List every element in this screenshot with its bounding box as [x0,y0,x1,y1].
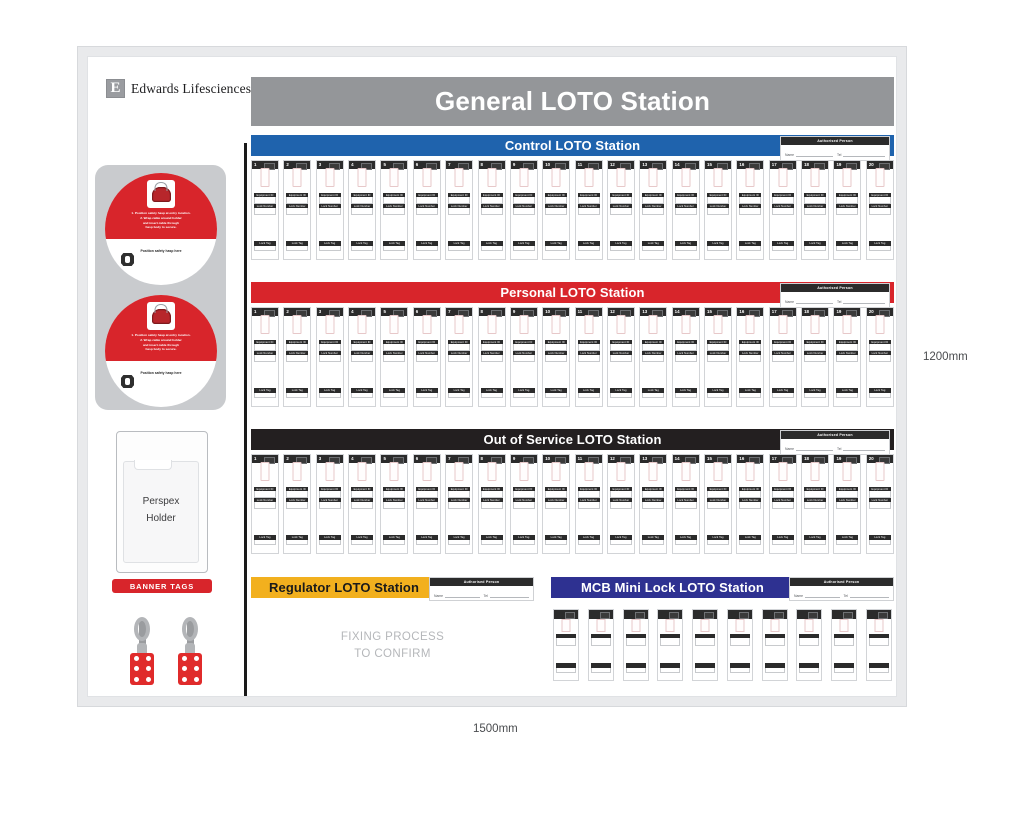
card-field-lock-tag[interactable]: Lock Tag [739,241,761,251]
mcb-field-primary[interactable] [626,634,646,646]
loto-card[interactable]: 2Equipment IDLock NumberLock Tag [283,454,311,554]
card-field-lock-tag[interactable]: Lock Tag [416,535,438,545]
authorised-person-name-field[interactable]: Name [434,590,480,598]
card-field-lock-number[interactable]: Lock Number [319,204,341,215]
card-field-lock-number[interactable]: Lock Number [448,498,470,509]
card-field-equipment-id[interactable]: Equipment ID [513,487,535,498]
card-field-equipment-id[interactable]: Equipment ID [642,340,664,351]
banner-tags-label: BANNER TAGS [112,579,212,593]
mcb-card[interactable] [831,609,857,681]
authorised-person-tel-field[interactable]: Tel [837,443,885,451]
card-field-equipment-id[interactable]: Equipment ID [286,487,308,498]
card-field-lock-number[interactable]: Lock Number [642,351,664,362]
card-tag-icon [811,462,820,481]
loto-card[interactable]: 13Equipment IDLock NumberLock Tag [639,160,667,260]
loto-card[interactable]: 18Equipment IDLock NumberLock Tag [801,307,829,407]
card-field-equipment-id[interactable]: Equipment ID [578,487,600,498]
card-field-lock-tag[interactable]: Lock Tag [254,241,276,251]
card-field-lock-number[interactable]: Lock Number [707,351,729,362]
loto-card[interactable]: 16Equipment IDLock NumberLock Tag [736,160,764,260]
loto-card[interactable]: 14Equipment IDLock NumberLock Tag [672,307,700,407]
card-field-lock-tag[interactable]: Lock Tag [383,535,405,545]
card-field-lock-number[interactable]: Lock Number [707,498,729,509]
card-field-lock-tag[interactable]: Lock Tag [254,388,276,398]
mcb-field-secondary[interactable] [765,663,785,673]
card-field-lock-tag[interactable]: Lock Tag [351,535,373,545]
card-field-equipment-id[interactable]: Equipment ID [836,487,858,498]
card-number: 5 [381,163,385,167]
card-field-equipment-id[interactable]: Equipment ID [707,340,729,351]
loto-card[interactable]: 8Equipment IDLock NumberLock Tag [478,307,506,407]
loto-card[interactable]: 12Equipment IDLock NumberLock Tag [607,454,635,554]
mcb-card[interactable] [727,609,753,681]
loto-card[interactable]: 13Equipment IDLock NumberLock Tag [639,454,667,554]
card-field-lock-number[interactable]: Lock Number [481,351,503,362]
card-field-equipment-id[interactable]: Equipment ID [383,487,405,498]
card-field-equipment-id[interactable]: Equipment ID [642,487,664,498]
card-field-lock-number[interactable]: Lock Number [319,351,341,362]
loto-card[interactable]: 19Equipment IDLock NumberLock Tag [833,454,861,554]
card-field-lock-number[interactable]: Lock Number [351,498,373,509]
card-field-equipment-id[interactable]: Equipment ID [319,193,341,204]
card-field-lock-tag[interactable]: Lock Tag [416,241,438,251]
card-field-lock-number[interactable]: Lock Number [610,498,632,509]
card-field-lock-number[interactable]: Lock Number [804,204,826,215]
perspex-label: Perspex Holder [116,493,206,527]
loto-card[interactable]: 2Equipment IDLock NumberLock Tag [283,160,311,260]
card-field-lock-number[interactable]: Lock Number [869,204,891,215]
card-field-equipment-id[interactable]: Equipment ID [675,193,697,204]
card-field-lock-tag[interactable]: Lock Tag [675,535,697,545]
card-field-lock-number[interactable]: Lock Number [383,351,405,362]
card-field-equipment-id[interactable]: Equipment ID [286,193,308,204]
card-field-lock-tag[interactable]: Lock Tag [319,241,341,251]
card-field-lock-tag[interactable]: Lock Tag [610,388,632,398]
card-field-equipment-id[interactable]: Equipment ID [610,193,632,204]
loto-card[interactable]: 14Equipment IDLock NumberLock Tag [672,160,700,260]
card-field-lock-tag[interactable]: Lock Tag [675,241,697,251]
mcb-field-secondary[interactable] [626,663,646,673]
card-field-lock-tag[interactable]: Lock Tag [836,388,858,398]
card-field-lock-tag[interactable]: Lock Tag [707,388,729,398]
loto-card[interactable]: 3Equipment IDLock NumberLock Tag [316,454,344,554]
card-field-equipment-id[interactable]: Equipment ID [578,340,600,351]
loto-card[interactable]: 8Equipment IDLock NumberLock Tag [478,454,506,554]
mcb-card[interactable] [588,609,614,681]
card-field-lock-tag[interactable]: Lock Tag [610,535,632,545]
card-field-lock-number[interactable]: Lock Number [545,351,567,362]
authorised-person-box[interactable]: Authorised PersonNameTel [780,283,890,308]
card-field-equipment-id[interactable]: Equipment ID [804,340,826,351]
card-field-lock-tag[interactable]: Lock Tag [869,535,891,545]
loto-card[interactable]: 16Equipment IDLock NumberLock Tag [736,454,764,554]
mcb-field-secondary[interactable] [869,663,889,673]
card-field-lock-tag[interactable]: Lock Tag [836,241,858,251]
loto-card[interactable]: 5Equipment IDLock NumberLock Tag [380,160,408,260]
card-field-lock-number[interactable]: Lock Number [513,351,535,362]
card-tag-icon [770,619,779,632]
card-field-equipment-id[interactable]: Equipment ID [416,487,438,498]
authorised-person-name-field[interactable]: Name [785,296,833,304]
loto-card[interactable]: 2Equipment IDLock NumberLock Tag [283,307,311,407]
card-tag-icon [875,462,884,481]
loto-card[interactable]: 14Equipment IDLock NumberLock Tag [672,454,700,554]
card-field-lock-number[interactable]: Lock Number [642,204,664,215]
card-field-equipment-id[interactable]: Equipment ID [804,487,826,498]
mcb-field-primary[interactable] [834,634,854,646]
card-field-equipment-id[interactable]: Equipment ID [383,340,405,351]
loto-card[interactable]: 20Equipment IDLock NumberLock Tag [866,454,894,554]
card-field-lock-tag[interactable]: Lock Tag [707,241,729,251]
card-field-lock-tag[interactable]: Lock Tag [804,388,826,398]
card-number: 12 [608,457,615,461]
card-field-lock-tag[interactable]: Lock Tag [707,535,729,545]
authorised-person-name-field[interactable]: Name [785,149,833,157]
mcb-field-primary[interactable] [765,634,785,646]
card-field-lock-tag[interactable]: Lock Tag [739,535,761,545]
mcb-field-secondary[interactable] [834,663,854,673]
loto-card[interactable]: 17Equipment IDLock NumberLock Tag [769,454,797,554]
mcb-card-header [797,610,821,619]
card-field-equipment-id[interactable]: Equipment ID [481,340,503,351]
card-field-lock-tag[interactable]: Lock Tag [545,241,567,251]
card-field-lock-tag[interactable]: Lock Tag [448,241,470,251]
card-field-lock-tag[interactable]: Lock Tag [739,388,761,398]
card-field-lock-number[interactable]: Lock Number [286,204,308,215]
mcb-card[interactable] [762,609,788,681]
card-field-equipment-id[interactable]: Equipment ID [772,193,794,204]
card-field-equipment-id[interactable]: Equipment ID [610,487,632,498]
card-field-lock-tag[interactable]: Lock Tag [513,388,535,398]
card-field-equipment-id[interactable]: Equipment ID [481,487,503,498]
card-field-equipment-id[interactable]: Equipment ID [610,340,632,351]
card-number: 18 [802,457,809,461]
card-field-equipment-id[interactable]: Equipment ID [448,340,470,351]
mcb-card[interactable] [553,609,579,681]
card-field-equipment-id[interactable]: Equipment ID [513,340,535,351]
card-field-equipment-id[interactable]: Equipment ID [383,193,405,204]
card-field-lock-tag[interactable]: Lock Tag [286,388,308,398]
loto-card[interactable]: 7Equipment IDLock NumberLock Tag [445,454,473,554]
card-field-lock-tag[interactable]: Lock Tag [804,535,826,545]
card-field-lock-number[interactable]: Lock Number [772,498,794,509]
card-field-equipment-id[interactable]: Equipment ID [416,340,438,351]
card-field-lock-number[interactable]: Lock Number [383,204,405,215]
loto-card[interactable]: 9Equipment IDLock NumberLock Tag [510,307,538,407]
card-field-lock-tag[interactable]: Lock Tag [869,388,891,398]
card-field-equipment-id[interactable]: Equipment ID [739,340,761,351]
card-field-equipment-id[interactable]: Equipment ID [836,193,858,204]
card-field-equipment-id[interactable]: Equipment ID [869,487,891,498]
card-field-lock-number[interactable]: Lock Number [739,498,761,509]
card-field-equipment-id[interactable]: Equipment ID [707,193,729,204]
mcb-field-secondary[interactable] [660,663,680,673]
loto-card[interactable]: 3Equipment IDLock NumberLock Tag [316,307,344,407]
card-field-lock-number[interactable]: Lock Number [642,498,664,509]
card-tag-icon [455,315,464,334]
card-field-lock-tag[interactable]: Lock Tag [481,388,503,398]
card-field-equipment-id[interactable]: Equipment ID [675,487,697,498]
mcb-field-primary[interactable] [556,634,576,646]
card-field-lock-tag[interactable]: Lock Tag [772,241,794,251]
card-field-equipment-id[interactable]: Equipment ID [869,193,891,204]
mcb-field-primary[interactable] [695,634,715,646]
card-field-lock-tag[interactable]: Lock Tag [351,241,373,251]
loto-card[interactable]: 5Equipment IDLock NumberLock Tag [380,307,408,407]
card-field-lock-tag[interactable]: Lock Tag [448,535,470,545]
card-field-lock-number[interactable]: Lock Number [448,204,470,215]
loto-card[interactable]: 4Equipment IDLock NumberLock Tag [348,454,376,554]
card-field-lock-number[interactable]: Lock Number [319,498,341,509]
loto-card[interactable]: 10Equipment IDLock NumberLock Tag [542,454,570,554]
card-field-equipment-id[interactable]: Equipment ID [254,487,276,498]
card-field-equipment-id[interactable]: Equipment ID [772,340,794,351]
card-field-lock-number[interactable]: Lock Number [707,204,729,215]
mcb-field-secondary[interactable] [799,663,819,673]
card-field-lock-number[interactable]: Lock Number [610,204,632,215]
loto-card[interactable]: 20Equipment IDLock NumberLock Tag [866,160,894,260]
card-field-equipment-id[interactable]: Equipment ID [254,340,276,351]
card-field-lock-number[interactable]: Lock Number [675,351,697,362]
loto-card[interactable]: 15Equipment IDLock NumberLock Tag [704,307,732,407]
card-field-lock-number[interactable]: Lock Number [481,498,503,509]
card-field-lock-tag[interactable]: Lock Tag [545,535,567,545]
card-field-lock-number[interactable]: Lock Number [772,204,794,215]
card-field-equipment-id[interactable]: Equipment ID [448,487,470,498]
loto-card[interactable]: 11Equipment IDLock NumberLock Tag [575,307,603,407]
card-field-lock-tag[interactable]: Lock Tag [642,241,664,251]
card-field-lock-tag[interactable]: Lock Tag [578,535,600,545]
card-field-equipment-id[interactable]: Equipment ID [351,193,373,204]
loto-card[interactable]: 6Equipment IDLock NumberLock Tag [413,307,441,407]
card-field-lock-number[interactable]: Lock Number [804,498,826,509]
card-field-lock-number[interactable]: Lock Number [351,351,373,362]
loto-card[interactable]: 19Equipment IDLock NumberLock Tag [833,307,861,407]
card-field-lock-tag[interactable]: Lock Tag [642,388,664,398]
loto-card[interactable]: 7Equipment IDLock NumberLock Tag [445,307,473,407]
mcb-field-primary[interactable] [591,634,611,646]
card-field-lock-number[interactable]: Lock Number [836,351,858,362]
card-field-equipment-id[interactable]: Equipment ID [481,193,503,204]
card-field-equipment-id[interactable]: Equipment ID [675,340,697,351]
loto-card[interactable]: 3Equipment IDLock NumberLock Tag [316,160,344,260]
card-field-lock-tag[interactable]: Lock Tag [286,535,308,545]
loto-card[interactable]: 10Equipment IDLock NumberLock Tag [542,160,570,260]
loto-card[interactable]: 16Equipment IDLock NumberLock Tag [736,307,764,407]
card-field-equipment-id[interactable]: Equipment ID [804,193,826,204]
loto-card[interactable]: 8Equipment IDLock NumberLock Tag [478,160,506,260]
card-field-lock-tag[interactable]: Lock Tag [578,388,600,398]
card-field-equipment-id[interactable]: Equipment ID [351,487,373,498]
authorised-person-name-field[interactable]: Name [785,443,833,451]
card-field-lock-tag[interactable]: Lock Tag [383,388,405,398]
card-field-equipment-id[interactable]: Equipment ID [836,340,858,351]
loto-card[interactable]: 1Equipment IDLock NumberLock Tag [251,454,279,554]
loto-card[interactable]: 18Equipment IDLock NumberLock Tag [801,160,829,260]
card-field-equipment-id[interactable]: Equipment ID [286,340,308,351]
mcb-card[interactable] [623,609,649,681]
card-field-equipment-id[interactable]: Equipment ID [319,487,341,498]
card-field-lock-tag[interactable]: Lock Tag [383,241,405,251]
mcb-card[interactable] [657,609,683,681]
card-field-lock-number[interactable]: Lock Number [869,351,891,362]
card-field-lock-tag[interactable]: Lock Tag [416,388,438,398]
regulator-station: Regulator LOTO Station Authorised Person… [251,577,534,598]
loto-card[interactable]: 18Equipment IDLock NumberLock Tag [801,454,829,554]
authorised-person-box[interactable]: Authorised Person Name Tel [429,577,534,601]
mcb-field-secondary[interactable] [730,663,750,673]
card-field-lock-tag[interactable]: Lock Tag [836,535,858,545]
mcb-field-primary[interactable] [660,634,680,646]
card-field-lock-number[interactable]: Lock Number [610,351,632,362]
authorised-person-tel-field[interactable]: Tel [837,149,885,157]
loto-card[interactable]: 12Equipment IDLock NumberLock Tag [607,307,635,407]
card-field-equipment-id[interactable]: Equipment ID [319,340,341,351]
card-field-lock-tag[interactable]: Lock Tag [351,388,373,398]
card-field-equipment-id[interactable]: Equipment ID [545,193,567,204]
loto-card[interactable]: 15Equipment IDLock NumberLock Tag [704,160,732,260]
mcb-card[interactable] [866,609,892,681]
card-field-equipment-id[interactable]: Equipment ID [739,193,761,204]
authorised-person-tel-field[interactable]: Tel [837,296,885,304]
card-field-equipment-id[interactable]: Equipment ID [869,340,891,351]
card-tag-icon [325,315,334,334]
authorised-person-tel-field[interactable]: Tel [484,590,530,598]
card-field-equipment-id[interactable]: Equipment ID [772,487,794,498]
card-field-lock-tag[interactable]: Lock Tag [254,535,276,545]
card-field-lock-number[interactable]: Lock Number [513,204,535,215]
loto-card[interactable]: 17Equipment IDLock NumberLock Tag [769,307,797,407]
card-field-lock-tag[interactable]: Lock Tag [448,388,470,398]
card-field-lock-tag[interactable]: Lock Tag [545,388,567,398]
loto-card[interactable]: 19Equipment IDLock NumberLock Tag [833,160,861,260]
card-field-lock-number[interactable]: Lock Number [448,351,470,362]
mcb-field-primary[interactable] [730,634,750,646]
card-field-equipment-id[interactable]: Equipment ID [545,487,567,498]
card-field-equipment-id[interactable]: Equipment ID [707,487,729,498]
loto-card[interactable]: 6Equipment IDLock NumberLock Tag [413,160,441,260]
card-field-lock-tag[interactable]: Lock Tag [513,535,535,545]
card-field-lock-number[interactable]: Lock Number [578,351,600,362]
card-field-lock-number[interactable]: Lock Number [739,204,761,215]
loto-card[interactable]: 5Equipment IDLock NumberLock Tag [380,454,408,554]
loto-card[interactable]: 4Equipment IDLock NumberLock Tag [348,160,376,260]
authorised-person-box[interactable]: Authorised PersonNameTel [780,136,890,161]
card-number: 2 [284,310,288,314]
card-field-lock-tag[interactable]: Lock Tag [286,241,308,251]
card-field-lock-tag[interactable]: Lock Tag [869,241,891,251]
card-field-lock-number[interactable]: Lock Number [836,204,858,215]
mcb-field-primary[interactable] [869,634,889,646]
card-field-lock-number[interactable]: Lock Number [772,351,794,362]
loto-card[interactable]: 4Equipment IDLock NumberLock Tag [348,307,376,407]
authorised-person-box[interactable]: Authorised Person Name Tel [789,577,894,601]
card-field-lock-number[interactable]: Lock Number [286,351,308,362]
card-field-lock-number[interactable]: Lock Number [254,498,276,509]
card-field-equipment-id[interactable]: Equipment ID [513,193,535,204]
loto-card[interactable]: 17Equipment IDLock NumberLock Tag [769,160,797,260]
card-field-lock-tag[interactable]: Lock Tag [481,241,503,251]
card-field-equipment-id[interactable]: Equipment ID [351,340,373,351]
loto-card[interactable]: 15Equipment IDLock NumberLock Tag [704,454,732,554]
card-field-lock-number[interactable]: Lock Number [383,498,405,509]
card-field-lock-number[interactable]: Lock Number [416,498,438,509]
authorised-person-name-field[interactable]: Name [794,590,840,598]
card-field-lock-number[interactable]: Lock Number [804,351,826,362]
card-field-equipment-id[interactable]: Equipment ID [545,340,567,351]
loto-card[interactable]: 6Equipment IDLock NumberLock Tag [413,454,441,554]
card-field-equipment-id[interactable]: Equipment ID [739,487,761,498]
mcb-field-secondary[interactable] [695,663,715,673]
card-field-lock-tag[interactable]: Lock Tag [319,535,341,545]
card-field-lock-number[interactable]: Lock Number [578,204,600,215]
card-field-lock-number[interactable]: Lock Number [545,498,567,509]
mcb-field-secondary[interactable] [591,663,611,673]
card-field-lock-tag[interactable]: Lock Tag [675,388,697,398]
card-field-lock-number[interactable]: Lock Number [254,351,276,362]
loto-card[interactable]: 7Equipment IDLock NumberLock Tag [445,160,473,260]
card-field-lock-tag[interactable]: Lock Tag [481,535,503,545]
card-field-lock-tag[interactable]: Lock Tag [319,388,341,398]
loto-card[interactable]: 11Equipment IDLock NumberLock Tag [575,160,603,260]
mcb-field-secondary[interactable] [556,663,576,673]
mcb-field-primary[interactable] [799,634,819,646]
card-field-lock-tag[interactable]: Lock Tag [610,241,632,251]
loto-card[interactable]: 13Equipment IDLock NumberLock Tag [639,307,667,407]
card-field-lock-number[interactable]: Lock Number [675,498,697,509]
loto-card[interactable]: 20Equipment IDLock NumberLock Tag [866,307,894,407]
card-field-equipment-id[interactable]: Equipment ID [254,193,276,204]
card-field-lock-number[interactable]: Lock Number [836,498,858,509]
card-field-lock-number[interactable]: Lock Number [416,204,438,215]
card-field-lock-number[interactable]: Lock Number [578,498,600,509]
card-field-equipment-id[interactable]: Equipment ID [416,193,438,204]
card-tag-icon [714,168,723,187]
card-field-lock-tag[interactable]: Lock Tag [804,241,826,251]
mcb-card[interactable] [796,609,822,681]
card-field-lock-number[interactable]: Lock Number [254,204,276,215]
card-field-lock-tag[interactable]: Lock Tag [772,535,794,545]
card-field-lock-number[interactable]: Lock Number [286,498,308,509]
authorised-person-box[interactable]: Authorised PersonNameTel [780,430,890,455]
card-field-equipment-id[interactable]: Equipment ID [448,193,470,204]
card-field-lock-number[interactable]: Lock Number [513,498,535,509]
authorised-person-tel-field[interactable]: Tel [844,590,890,598]
loto-card[interactable]: 10Equipment IDLock NumberLock Tag [542,307,570,407]
loto-card[interactable]: 1Equipment IDLock NumberLock Tag [251,160,279,260]
card-field-lock-tag[interactable]: Lock Tag [642,535,664,545]
loto-card[interactable]: 9Equipment IDLock NumberLock Tag [510,454,538,554]
card-field-lock-number[interactable]: Lock Number [481,204,503,215]
loto-card[interactable]: 1Equipment IDLock NumberLock Tag [251,307,279,407]
card-field-equipment-id[interactable]: Equipment ID [578,193,600,204]
card-field-lock-tag[interactable]: Lock Tag [513,241,535,251]
loto-card[interactable]: 11Equipment IDLock NumberLock Tag [575,454,603,554]
card-field-lock-tag[interactable]: Lock Tag [578,241,600,251]
card-field-lock-number[interactable]: Lock Number [351,204,373,215]
card-field-equipment-id[interactable]: Equipment ID [642,193,664,204]
card-field-lock-number[interactable]: Lock Number [739,351,761,362]
card-field-lock-number[interactable]: Lock Number [675,204,697,215]
card-field-lock-number[interactable]: Lock Number [416,351,438,362]
loto-card[interactable]: 12Equipment IDLock NumberLock Tag [607,160,635,260]
card-field-lock-tag[interactable]: Lock Tag [772,388,794,398]
mcb-card[interactable] [692,609,718,681]
loto-card[interactable]: 9Equipment IDLock NumberLock Tag [510,160,538,260]
section-control: Control LOTO StationAuthorised PersonNam… [251,135,894,260]
card-field-lock-number[interactable]: Lock Number [869,498,891,509]
card-field-lock-number[interactable]: Lock Number [545,204,567,215]
